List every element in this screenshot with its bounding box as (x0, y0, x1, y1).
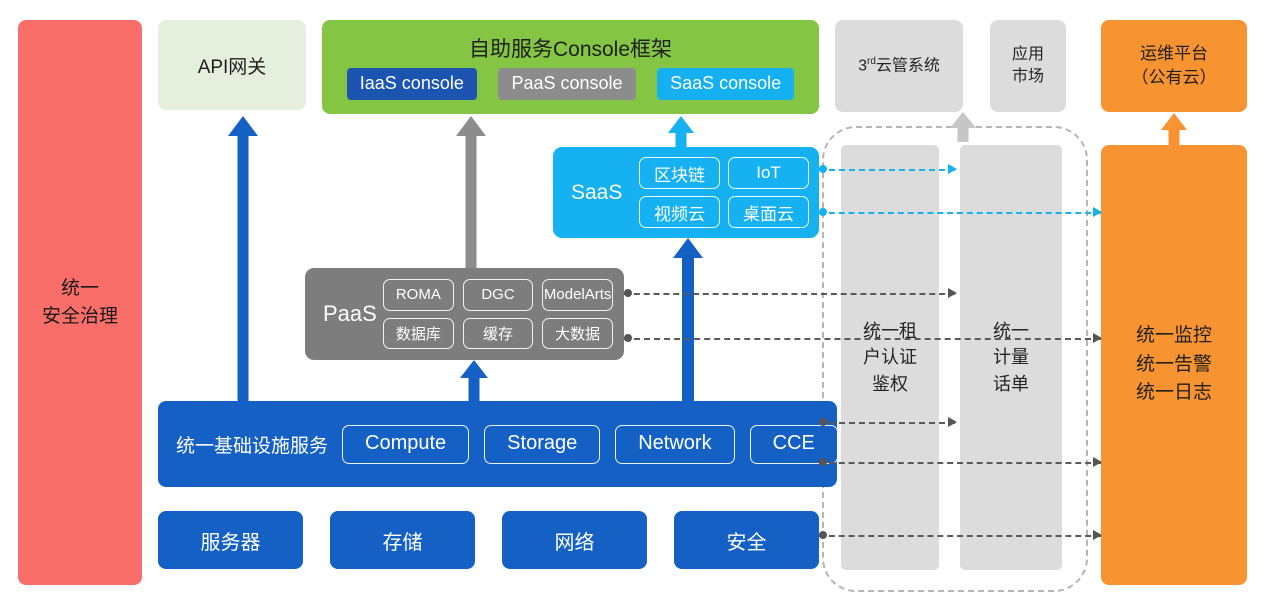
paas-service-grid: ROMA DGC ModelArts 数据库 缓存 大数据 (383, 279, 613, 349)
ops-platform-box[interactable]: 运维平台 （公有云） (1101, 20, 1247, 112)
api-gateway-box[interactable]: API网关 (158, 20, 306, 110)
paas-item-cache[interactable]: 缓存 (463, 318, 534, 350)
saas-service-grid: 区块链 IoT 视频云 桌面云 (639, 157, 809, 228)
saas-item-iot[interactable]: IoT (728, 157, 809, 189)
third-party-cloud-mgmt-box[interactable]: 3rd云管系统 (835, 20, 963, 112)
connector-dot (819, 418, 827, 426)
arrow-infra-to-api-gateway (228, 116, 258, 401)
hardware-label-storage: 存储 (383, 526, 423, 555)
infrastructure-item-row: Compute Storage Network CCE (342, 425, 838, 464)
unified-tenant-auth-label: 统一租 户认证 鉴权 (863, 318, 917, 396)
iaas-console-chip[interactable]: IaaS console (347, 68, 477, 100)
arrow-pillar-to-ops-platform (1161, 113, 1187, 145)
paas-block[interactable]: PaaS ROMA DGC ModelArts 数据库 缓存 大数据 (305, 268, 624, 360)
connector-arrowhead (948, 164, 957, 174)
third-party-cloud-mgmt-label: 3rd云管系统 (858, 55, 940, 77)
connector-hardware-to-ops (819, 535, 1101, 537)
infra-item-storage[interactable]: Storage (484, 425, 600, 464)
hardware-label-server: 服务器 (201, 526, 261, 555)
hardware-box-security[interactable]: 安全 (674, 511, 819, 569)
arrow-zone-to-third-party (950, 112, 976, 142)
connector-saas-to-ops (819, 212, 1101, 214)
ops-platform-label: 运维平台 （公有云） (1132, 42, 1217, 90)
unified-infrastructure-label: 统一基础设施服务 (176, 431, 328, 458)
connector-arrowhead (1093, 457, 1102, 467)
connector-arrowhead (948, 417, 957, 427)
saas-item-blockchain[interactable]: 区块链 (639, 157, 720, 189)
connector-dot (624, 334, 632, 342)
connector-saas-to-auth (819, 169, 955, 171)
unified-infrastructure-bar[interactable]: 统一基础设施服务 Compute Storage Network CCE (158, 401, 837, 487)
saas-item-desktop-cloud[interactable]: 桌面云 (728, 196, 809, 228)
paas-item-roma[interactable]: ROMA (383, 279, 454, 311)
connector-paas-to-metering (624, 293, 955, 295)
saas-console-chip[interactable]: SaaS console (657, 68, 794, 100)
console-frame-title: 自助服务Console框架 (322, 20, 819, 63)
paas-block-label: PaaS (323, 301, 377, 327)
ops-monitoring-label: 统一监控 统一告警 统一日志 (1136, 322, 1212, 408)
infra-item-network[interactable]: Network (615, 425, 734, 464)
app-market-box[interactable]: 应用 市场 (990, 20, 1066, 112)
hardware-box-network[interactable]: 网络 (502, 511, 647, 569)
hardware-label-network: 网络 (555, 526, 595, 555)
infra-item-compute[interactable]: Compute (342, 425, 469, 464)
connector-arrowhead (1093, 207, 1102, 217)
connector-dot (819, 165, 827, 173)
connector-dot (819, 208, 827, 216)
console-chip-row: IaaS console PaaS console SaaS console (322, 68, 819, 100)
hardware-label-security: 安全 (727, 526, 767, 555)
hardware-box-storage[interactable]: 存储 (330, 511, 475, 569)
paas-item-database[interactable]: 数据库 (383, 318, 454, 350)
api-gateway-label: API网关 (198, 52, 267, 79)
connector-infra-to-ops (819, 462, 1101, 464)
paas-item-modelarts[interactable]: ModelArts (542, 279, 613, 311)
connector-paas-to-ops (624, 338, 1101, 340)
unified-metering-column[interactable]: 统一 计量 话单 (960, 145, 1062, 570)
paas-item-bigdata[interactable]: 大数据 (542, 318, 613, 350)
self-service-console-frame[interactable]: 自助服务Console框架 IaaS console PaaS console … (322, 20, 819, 114)
paas-item-dgc[interactable]: DGC (463, 279, 534, 311)
saas-block-label: SaaS (571, 181, 622, 205)
arrow-paas-to-console (456, 116, 486, 268)
connector-arrowhead (1093, 333, 1102, 343)
unified-tenant-auth-column[interactable]: 统一租 户认证 鉴权 (841, 145, 939, 570)
connector-infra-to-metering (819, 422, 955, 424)
saas-block[interactable]: SaaS 区块链 IoT 视频云 桌面云 (553, 147, 819, 238)
ops-monitoring-pillar[interactable]: 统一监控 统一告警 统一日志 (1101, 145, 1247, 585)
architecture-diagram: 统一 安全治理 API网关 自助服务Console框架 IaaS console… (0, 0, 1265, 605)
security-governance-label: 统一 安全治理 (42, 275, 118, 330)
connector-arrowhead (948, 288, 957, 298)
arrow-saas-to-console (668, 116, 694, 147)
arrow-infra-to-saas (673, 238, 703, 401)
connector-dot (624, 289, 632, 297)
unified-metering-label: 统一 计量 话单 (993, 318, 1029, 396)
app-market-label: 应用 市场 (1012, 44, 1044, 87)
hardware-box-server[interactable]: 服务器 (158, 511, 303, 569)
connector-dot (819, 531, 827, 539)
connector-arrowhead (1093, 530, 1102, 540)
security-governance-pillar[interactable]: 统一 安全治理 (18, 20, 142, 585)
saas-item-video-cloud[interactable]: 视频云 (639, 196, 720, 228)
paas-console-chip[interactable]: PaaS console (498, 68, 635, 100)
connector-dot (819, 458, 827, 466)
arrow-infra-to-paas (459, 360, 489, 401)
